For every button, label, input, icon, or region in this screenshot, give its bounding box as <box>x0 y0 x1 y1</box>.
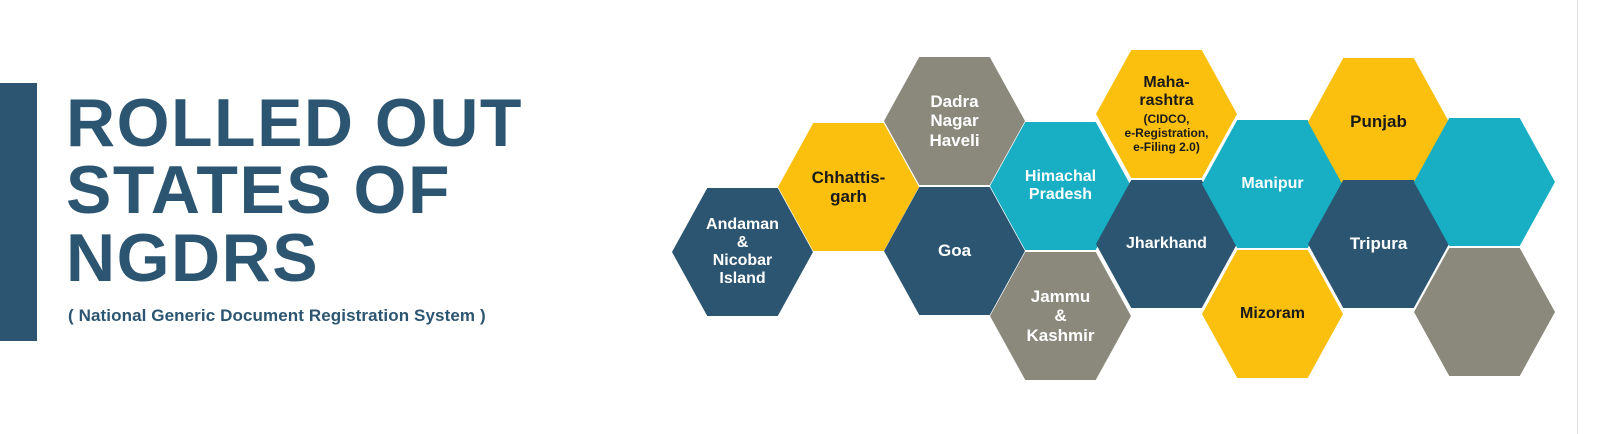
slide-canvas: ROLLED OUT STATES OF NGDRS ( National Ge… <box>0 0 1600 434</box>
hex-label: Mizoram <box>1240 305 1305 323</box>
hex-label: Manipur <box>1241 175 1303 193</box>
rolled-out-states-honeycomb: Andaman & Nicobar IslandChhattis- garhDa… <box>0 0 1578 434</box>
hex-cell-mizoram[interactable]: Mizoram <box>1202 250 1343 378</box>
hex-label: Jharkhand <box>1126 235 1207 253</box>
slide-frame: ROLLED OUT STATES OF NGDRS ( National Ge… <box>0 0 1578 434</box>
hex-label: Chhattis- garh <box>812 168 886 206</box>
hex-label: Goa <box>938 241 971 260</box>
hex-label: Tripura <box>1350 234 1408 253</box>
hex-label: Jammu & Kashmir <box>1026 287 1094 344</box>
hex-label: Himachal Pradesh <box>1025 168 1096 204</box>
hex-label: Punjab <box>1350 112 1407 131</box>
hex-label: Dadra Nagar Haveli <box>929 92 979 149</box>
hex-label: Maha- rashtra <box>1139 74 1193 110</box>
hex-cell-maharashtra[interactable]: Maha- rashtra(CIDCO, e-Registration, e-F… <box>1096 50 1237 178</box>
hex-sublabel: (CIDCO, e-Registration, e-Filing 2.0) <box>1124 112 1208 154</box>
hex-label: Andaman & Nicobar Island <box>706 216 779 288</box>
